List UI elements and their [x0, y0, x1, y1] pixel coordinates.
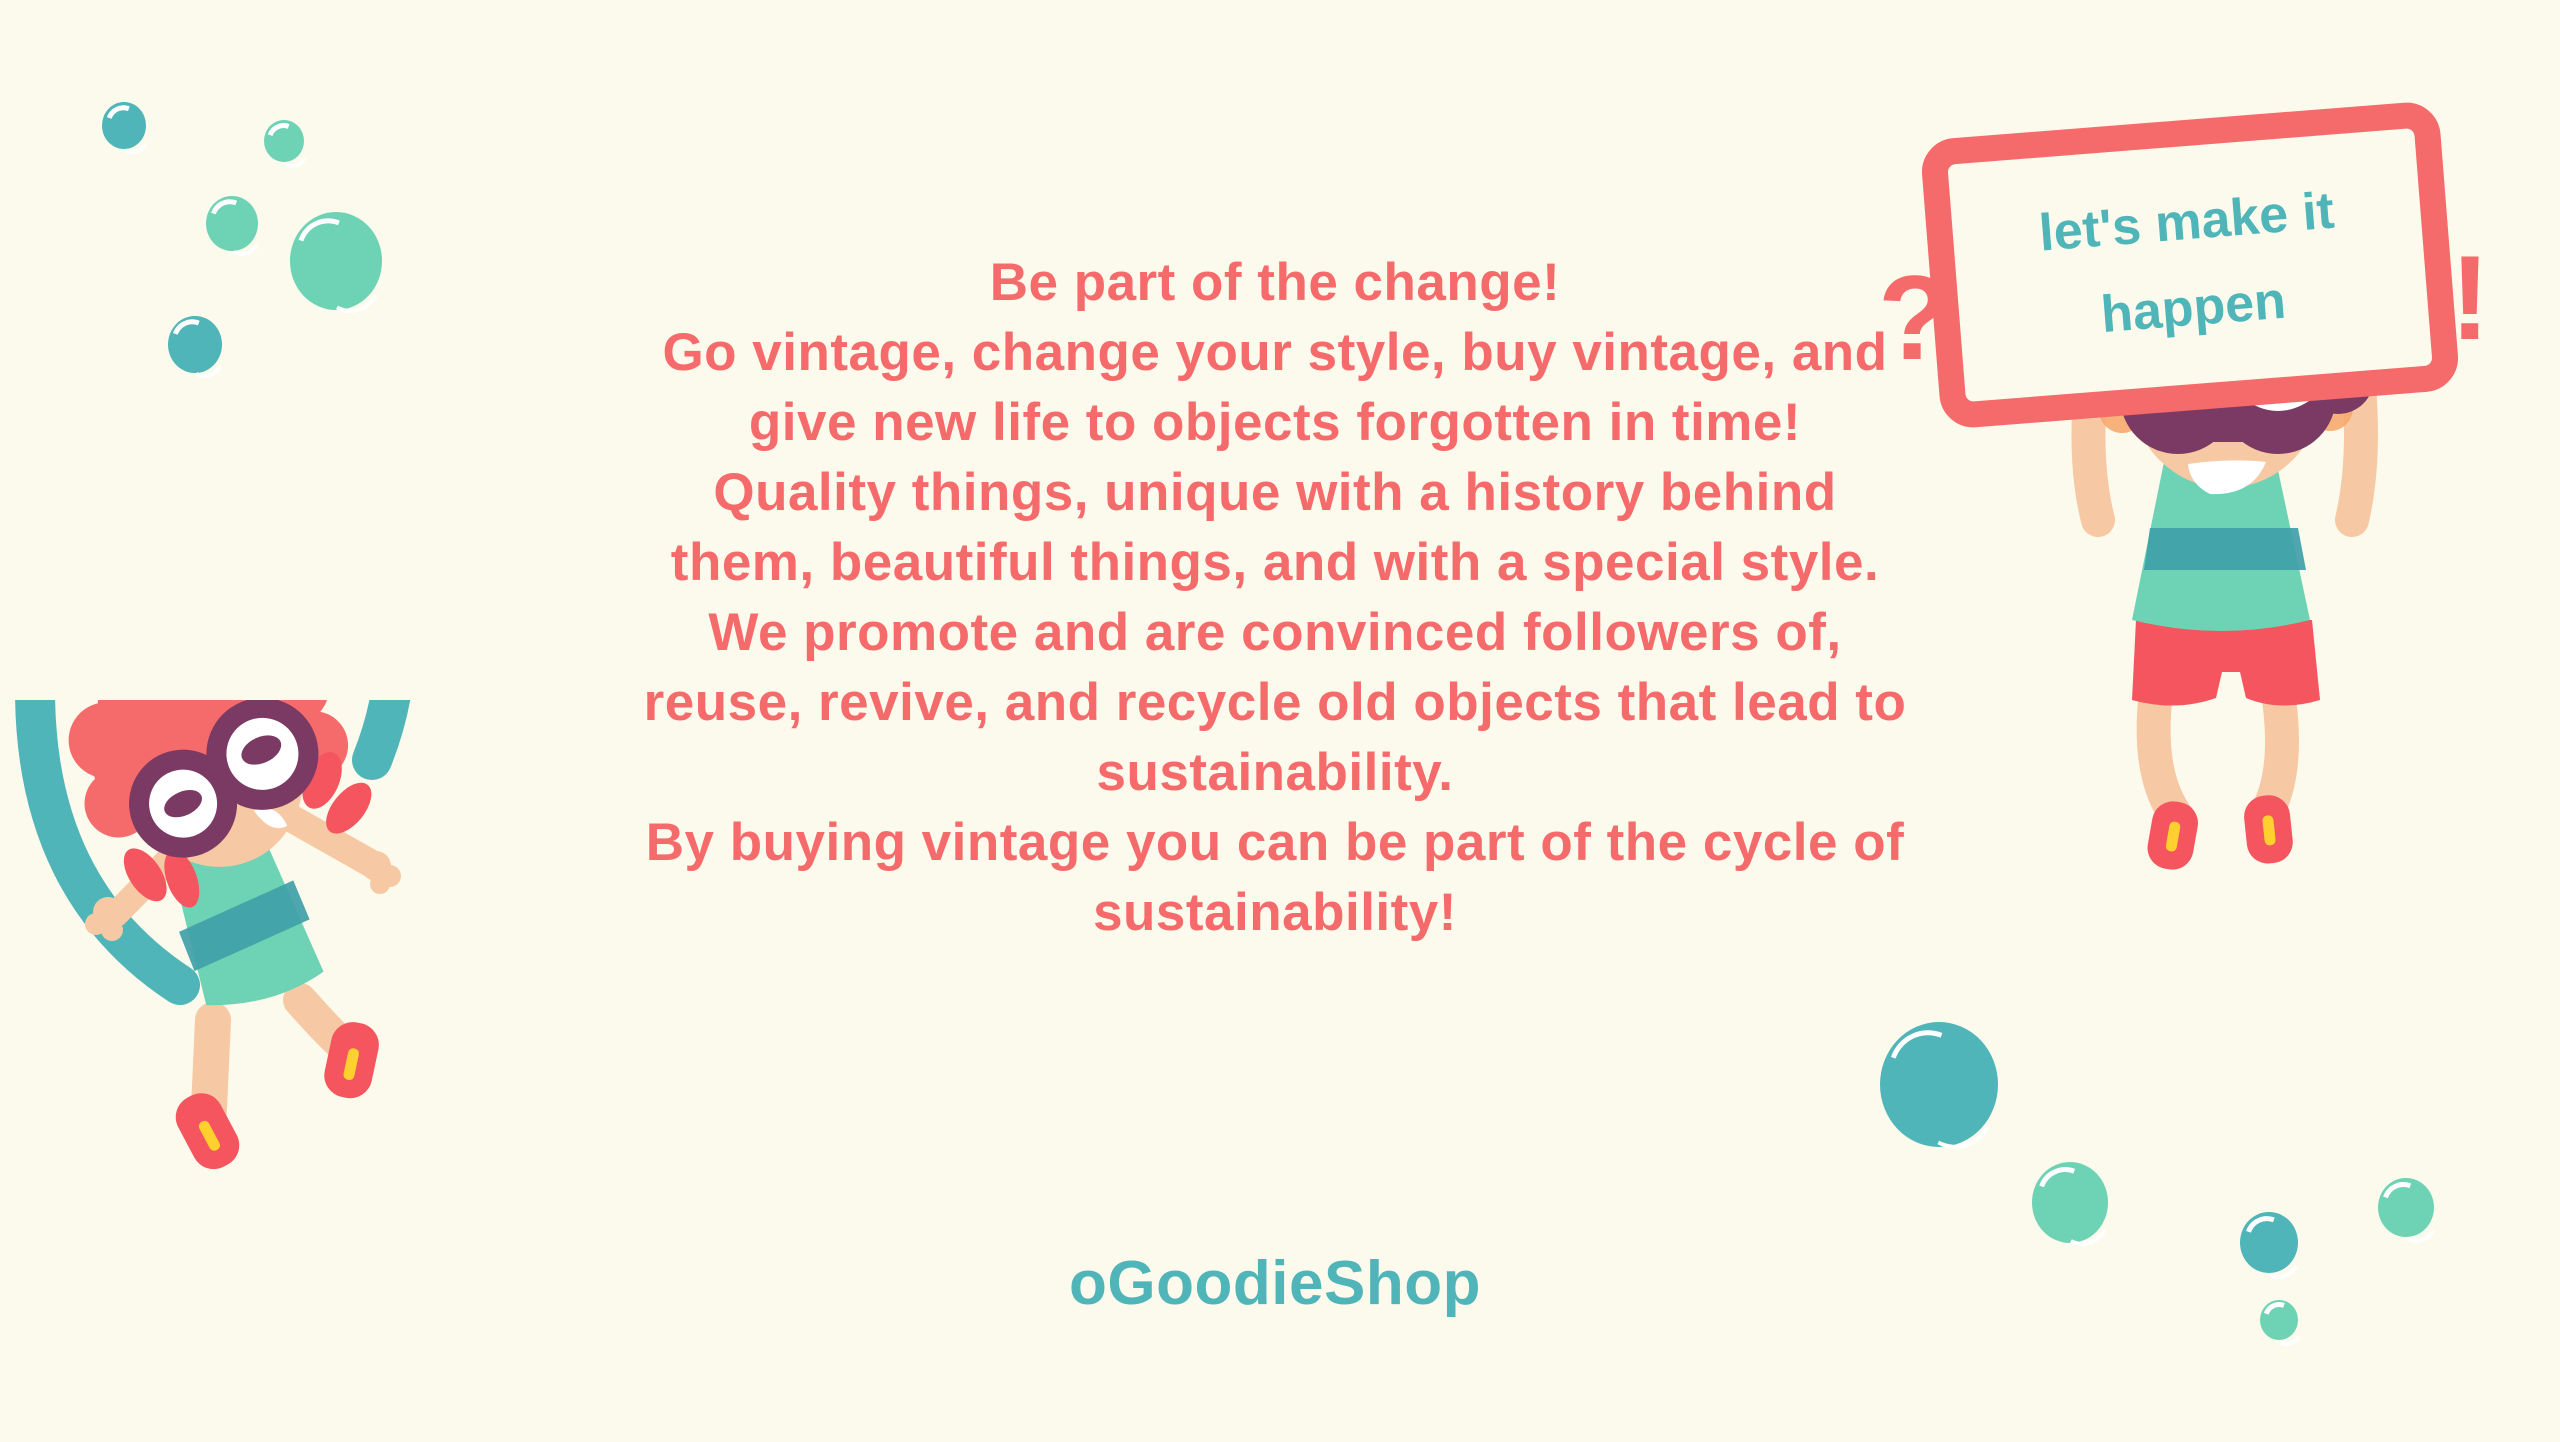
boy-leg-left	[2154, 692, 2178, 818]
girl-shoe-left	[168, 1085, 247, 1176]
swoosh-right-arc	[370, 700, 396, 760]
character-girl	[0, 700, 640, 1442]
bubble-decoration	[2240, 1212, 2298, 1273]
bubble-decoration	[290, 212, 382, 310]
protest-sign: let's make it happen	[1919, 100, 2460, 430]
bubble-decoration	[206, 196, 258, 251]
bubble-decoration	[102, 102, 146, 149]
bubble-decoration	[2378, 1178, 2434, 1237]
main-message-text: Be part of the change! Go vintage, chang…	[640, 248, 1910, 948]
poster-canvas: let's make it happen ? ! Be part of the …	[0, 0, 2560, 1442]
brand-logo-text: oGoodieShop	[640, 1248, 1910, 1319]
bubble-decoration	[1880, 1022, 1998, 1147]
boy-shorts	[2132, 620, 2320, 706]
bubble-decoration	[168, 316, 222, 373]
bubble-decoration	[2260, 1300, 2298, 1340]
bubble-decoration	[264, 120, 304, 162]
girl-hand-right	[361, 851, 401, 894]
exclamation-mark-icon: !	[2450, 238, 2490, 358]
bubble-decoration	[2032, 1162, 2108, 1243]
sign-text: let's make it happen	[1919, 100, 2460, 430]
